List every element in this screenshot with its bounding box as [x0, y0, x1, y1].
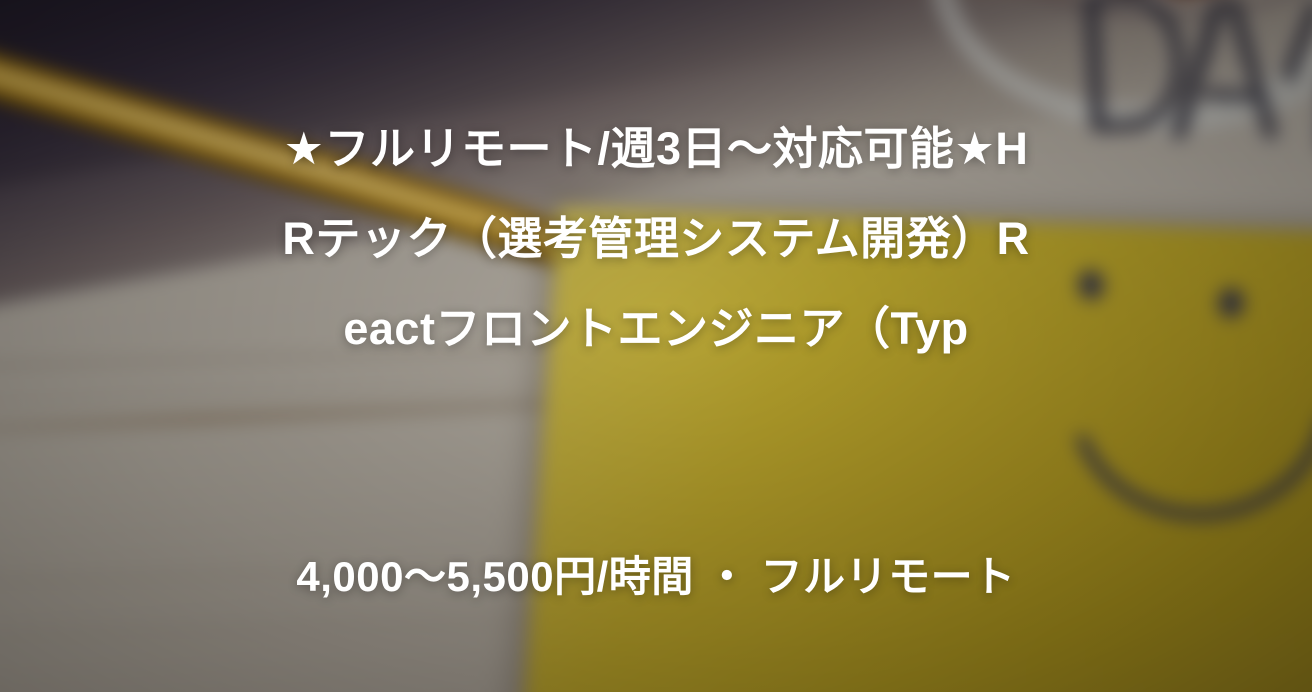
- job-title: ★フルリモート/週3日〜対応可能★HRテック（選考管理システム開発）Reactフ…: [276, 104, 1036, 374]
- job-subtitle: 4,000〜5,500円/時間 ・ フルリモート: [0, 548, 1312, 606]
- job-listing-card: ★フルリモート/週3日〜対応可能★HRテック（選考管理システム開発）Reactフ…: [0, 0, 1312, 692]
